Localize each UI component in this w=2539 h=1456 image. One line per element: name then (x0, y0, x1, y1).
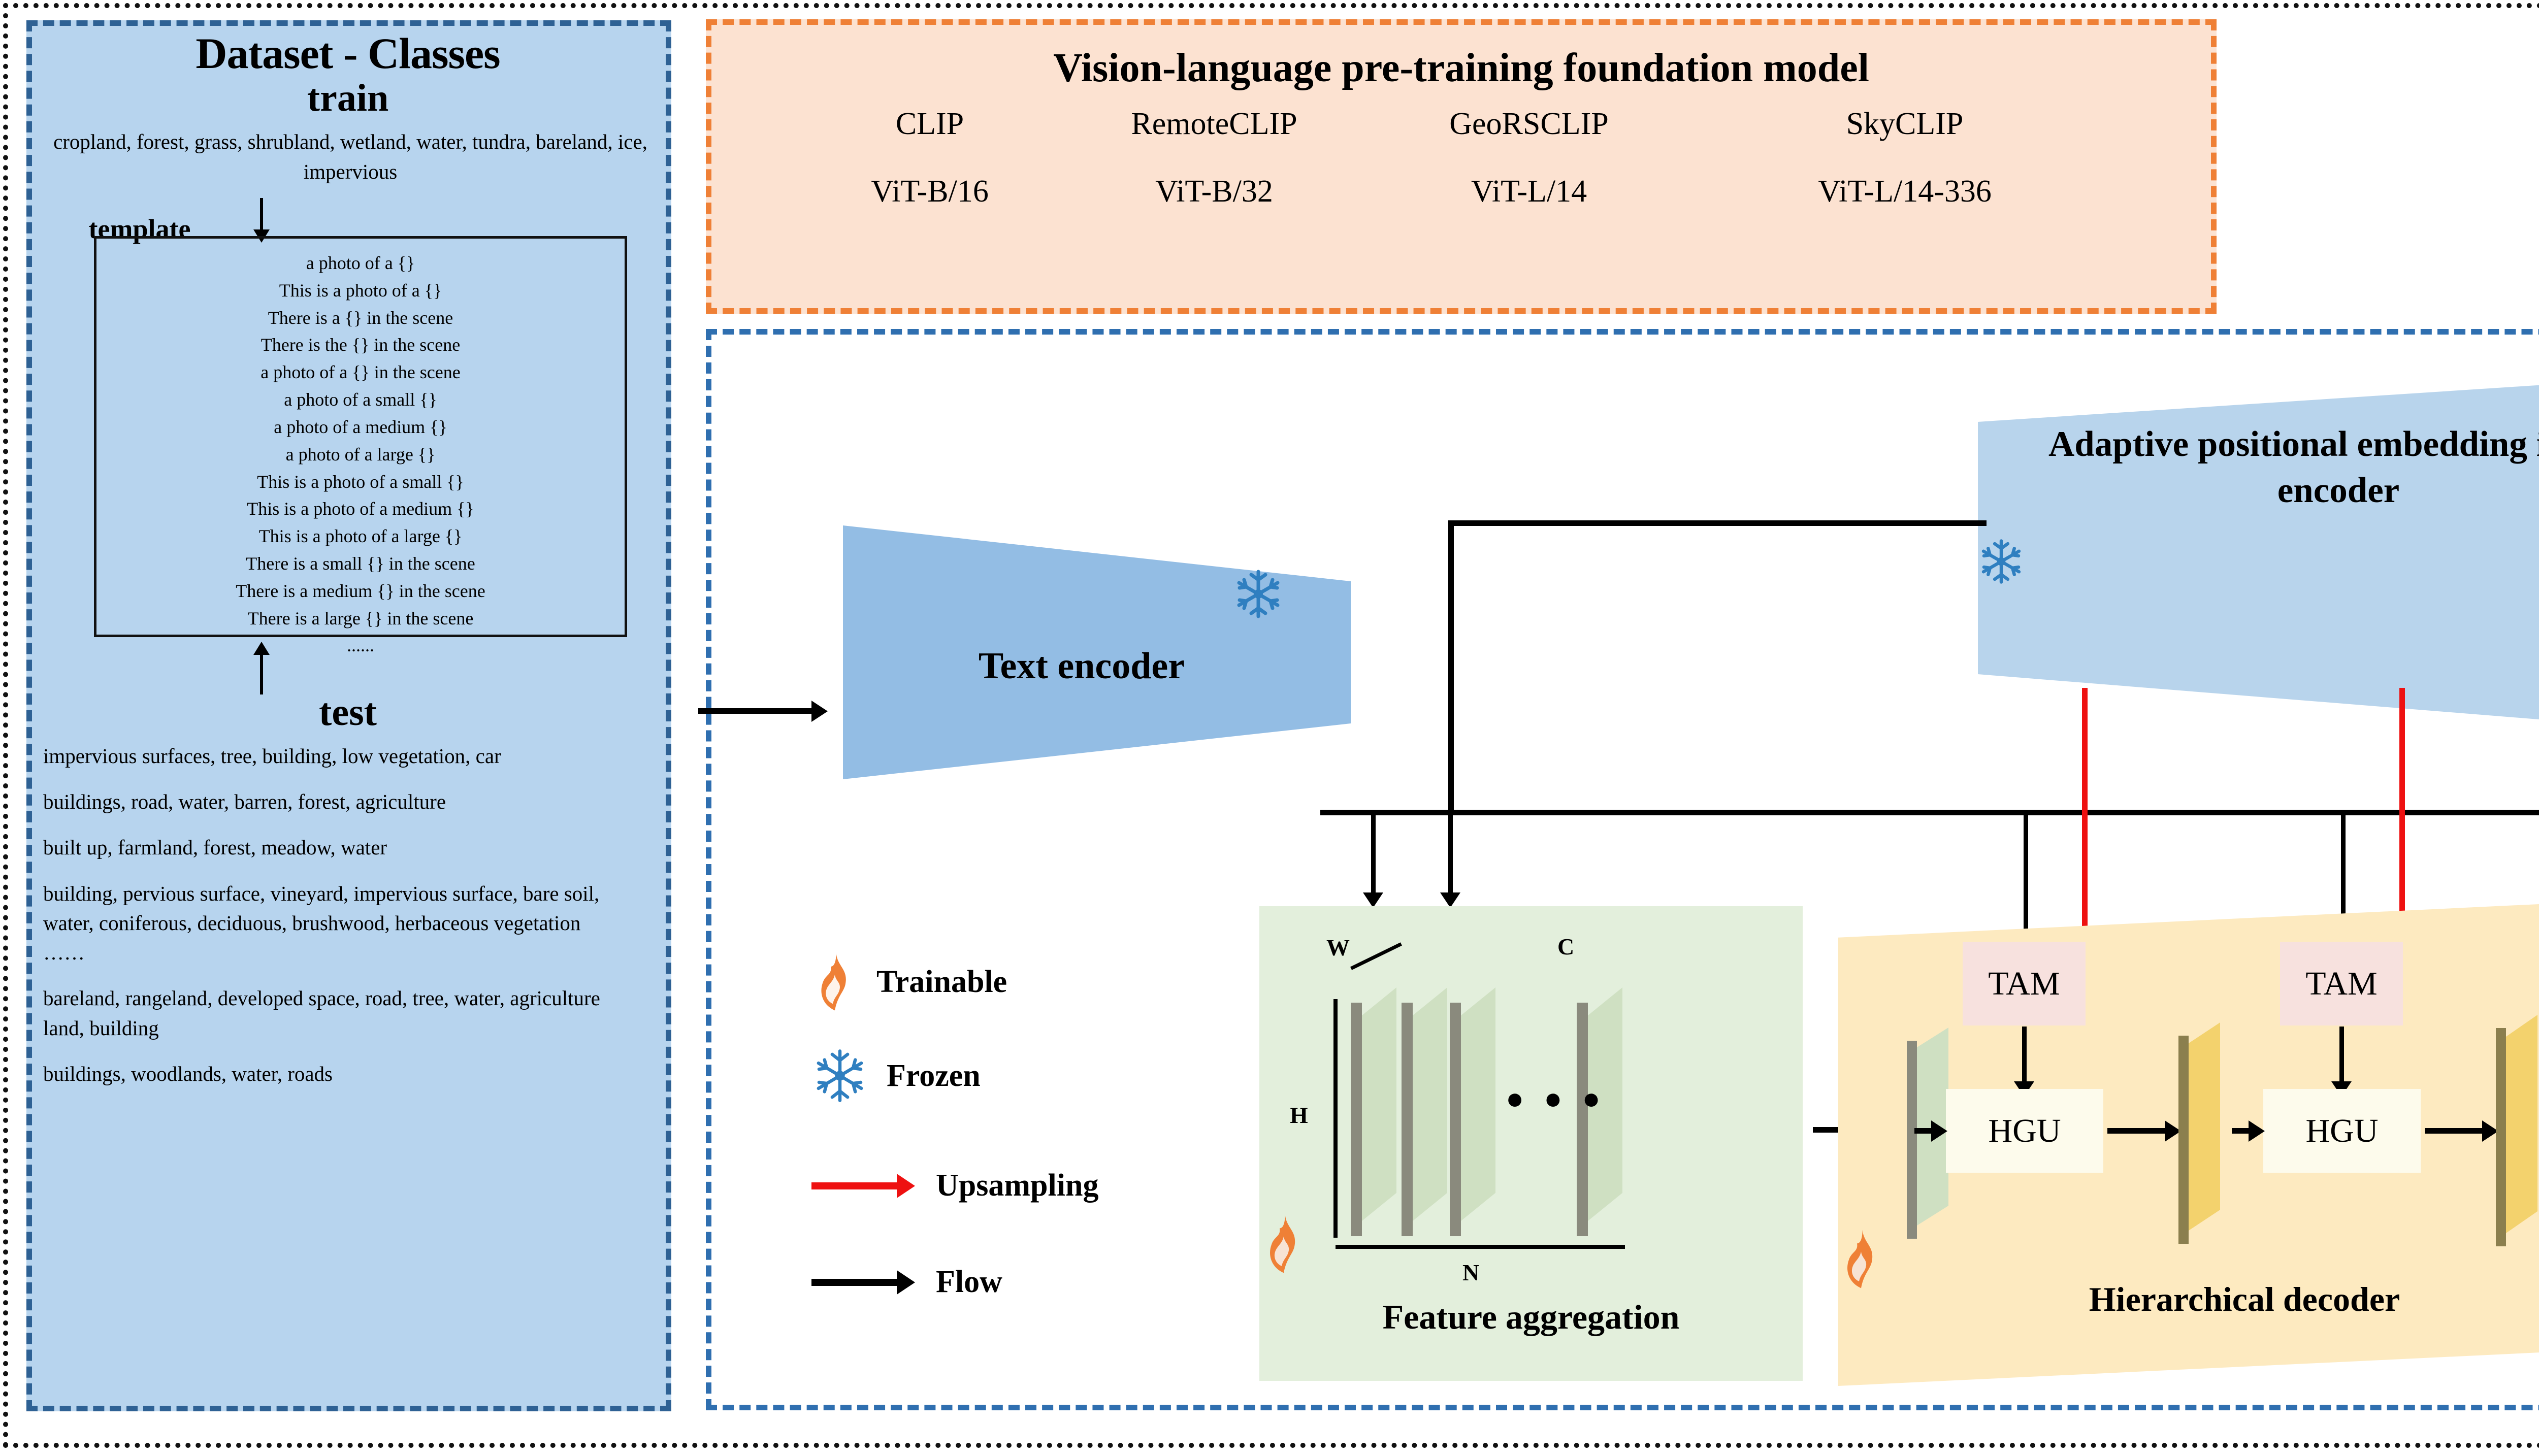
line-image-encoder-drop (1448, 520, 1454, 812)
arrow-tam1-to-hgu1 (2022, 1027, 2027, 1082)
snowflake-icon (1978, 538, 2025, 585)
template-line: There is a medium {} in the scene (96, 578, 625, 605)
image-encoder-label: Adaptive positional embedding image enco… (2019, 421, 2539, 514)
vlm-model-name: CLIP (803, 106, 1057, 142)
decoder-mid-slab (2178, 1036, 2220, 1244)
vlm-model-arch: ViT-B/32 (1057, 174, 1372, 210)
template-line: There is a {} in the scene (96, 305, 625, 332)
template-line: There is the {} in the scene (96, 332, 625, 359)
template-line: There is a large {} in the scene (96, 605, 625, 633)
arrow-tam2-to-hgu2 (2339, 1027, 2344, 1082)
template-line: a photo of a {} (96, 250, 625, 277)
text-encoder-label: Text encoder (843, 645, 1320, 688)
hierarchical-decoder-label: Hierarchical decoder (1889, 1279, 2539, 1319)
vlm-model-arch: ViT-L/14 (1372, 174, 1686, 210)
feature-slab-ellipsis: ● ● ● (1506, 1081, 1607, 1116)
line-image-encoder-top (1448, 520, 1987, 526)
vlm-model-name: SkyCLIP (1697, 106, 2113, 142)
template-line: a photo of a large {} (96, 441, 625, 469)
bracket-h (1333, 999, 1338, 1238)
flame-icon (812, 952, 857, 1012)
template-line: This is a photo of a large {} (96, 523, 625, 550)
feature-aggregation-label: Feature aggregation (1259, 1297, 1803, 1337)
decoder-out-slab (2496, 1028, 2537, 1246)
classes-train-list: cropland, forest, grass, shrubland, wetl… (51, 127, 650, 187)
template-line: This is a photo of a medium {} (96, 495, 625, 523)
red-arrow-icon (811, 1182, 898, 1189)
arrow-bus-to-feature-agg-2 (1448, 812, 1453, 894)
legend-item-flow: Flow (811, 1264, 1002, 1300)
classes-test-list: impervious surfaces, tree, building, low… (43, 741, 627, 1105)
black-arrow-icon (811, 1279, 898, 1286)
legend-label: Upsampling (936, 1168, 1098, 1204)
flame-icon (1263, 1213, 1304, 1274)
template-line: This is a photo of a small {} (96, 469, 625, 496)
test-class-group: bareland, rangeland, developed space, ro… (43, 983, 627, 1042)
tam-block-1[interactable]: TAM (1963, 942, 2086, 1025)
diagram-canvas: Dataset - Classes train cropland, forest… (0, 0, 2539, 1456)
arrow-hgu2-to-slab (2425, 1128, 2483, 1134)
legend-item-upsampling: Upsampling (811, 1168, 1098, 1204)
test-up-arrow-icon (260, 655, 263, 694)
arrow-slab-to-hgu1 (1914, 1128, 1932, 1134)
snowflake-icon (812, 1048, 867, 1103)
panel-vlm-foundation-models: Vision-language pre-training foundation … (706, 19, 2217, 314)
vlm-model-0: CLIP ViT-B/16 (803, 106, 1057, 210)
snowflake-icon (1233, 569, 1284, 619)
template-line: a photo of a medium {} (96, 414, 625, 441)
vlm-panel-title: Vision-language pre-training foundation … (711, 45, 2211, 91)
template-line: This is a photo of a {} (96, 277, 625, 305)
vlm-model-1: RemoteCLIP ViT-B/32 (1057, 106, 1372, 210)
tam-block-2[interactable]: TAM (2280, 942, 2403, 1025)
feature-dim-h: H (1290, 1102, 1308, 1129)
test-class-group: impervious surfaces, tree, building, low… (43, 741, 627, 771)
legend-label: Trainable (876, 964, 1007, 1000)
vlm-model-name: GeoRSCLIP (1372, 106, 1686, 142)
feature-slab (1351, 1003, 1396, 1236)
feature-slab (1450, 1003, 1495, 1236)
legend-label: Frozen (887, 1058, 981, 1094)
test-class-group: built up, farmland, forest, meadow, wate… (43, 833, 627, 862)
vlm-model-3: SkyCLIP ViT-L/14-336 (1697, 106, 2113, 210)
test-class-group: buildings, road, water, barren, forest, … (43, 787, 627, 816)
vlm-model-arch: ViT-L/14-336 (1697, 174, 2113, 210)
line-text-encoder-bus (1320, 810, 2539, 815)
feature-dim-n: N (1462, 1259, 1479, 1286)
arrow-upsampling-to-tam-1 (2082, 688, 2088, 959)
feature-dim-w: W (1326, 934, 1350, 961)
legend-label: Flow (936, 1264, 1002, 1300)
feature-slab (1577, 1003, 1622, 1236)
legend-item-frozen: Frozen (812, 1048, 981, 1103)
template-box: a photo of a {}This is a photo of a {}Th… (94, 236, 627, 637)
feature-slab (1402, 1003, 1447, 1236)
hgu-block-1[interactable]: HGU (1946, 1089, 2103, 1173)
vlm-model-name: RemoteCLIP (1057, 106, 1372, 142)
arrow-hgu1-to-slab (2107, 1128, 2166, 1134)
template-line: a photo of a {} in the scene (96, 359, 625, 386)
arrow-classes-to-text-encoder (698, 708, 812, 714)
legend-item-trainable: Trainable (812, 952, 1007, 1012)
arrow-slab-to-hgu2 (2232, 1128, 2250, 1134)
dataset-classes-title: Dataset - Classes (61, 28, 635, 79)
classes-test-label: test (61, 690, 635, 735)
template-list: a photo of a {}This is a photo of a {}Th… (96, 250, 625, 659)
feature-dim-c: C (1557, 933, 1574, 960)
hgu-block-2[interactable]: HGU (2263, 1089, 2421, 1173)
template-line: ...... (96, 632, 625, 659)
template-line: There is a small {} in the scene (96, 550, 625, 578)
test-class-group: buildings, woodlands, water, roads (43, 1059, 627, 1088)
flame-icon (1841, 1229, 1881, 1289)
classes-train-label: train (61, 76, 635, 120)
vlm-model-arch: ViT-B/16 (803, 174, 1057, 210)
vlm-model-2: GeoRSCLIP ViT-L/14 (1372, 106, 1686, 210)
template-line: a photo of a small {} (96, 386, 625, 414)
arrow-bus-to-feature-agg-1 (1371, 812, 1376, 894)
template-down-arrow-icon (260, 198, 263, 234)
test-class-group: building, pervious surface, vineyard, im… (43, 879, 627, 968)
bracket-n (1336, 1245, 1625, 1249)
